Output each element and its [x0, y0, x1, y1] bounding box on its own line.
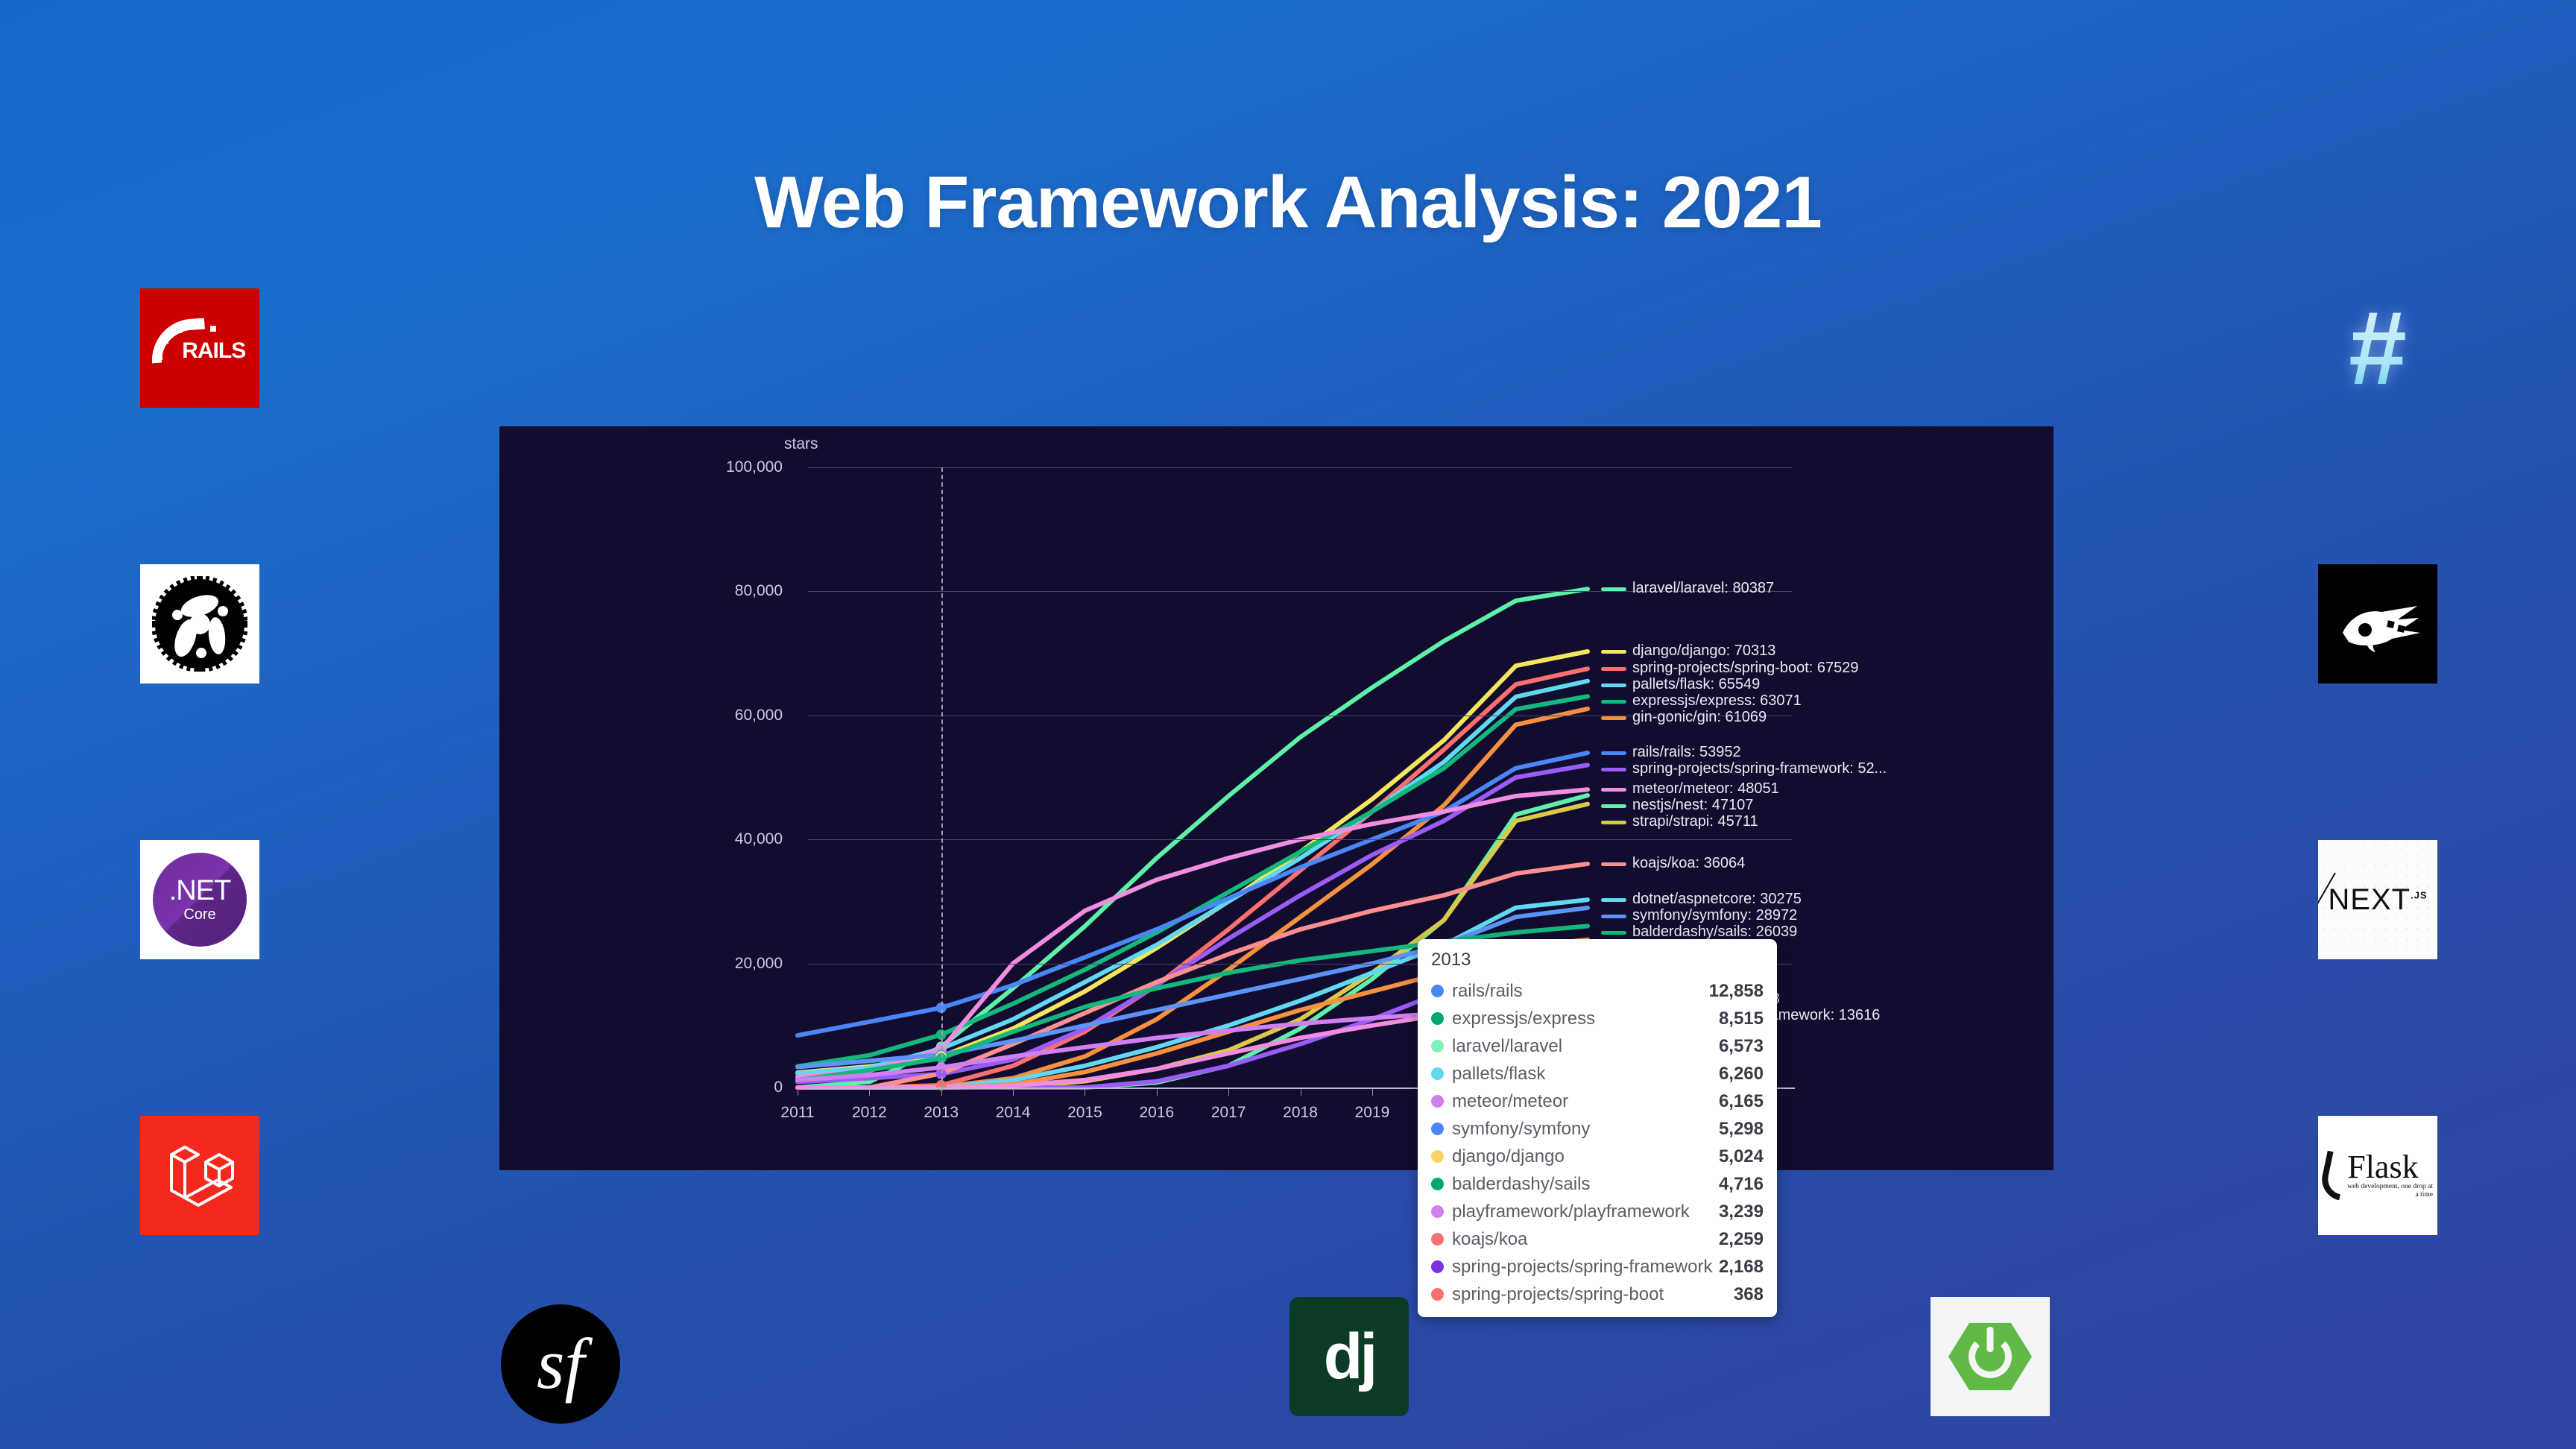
- spring-hexagon-icon: [1948, 1320, 2032, 1393]
- series-end-label: pallets/flask: 65549: [1632, 676, 1760, 693]
- tooltip-row: meteor/meteor6,165: [1431, 1087, 1764, 1115]
- tooltip-row: symfony/symfony5,298: [1431, 1115, 1764, 1143]
- series-color-swatch: [1601, 915, 1626, 918]
- y-axis-tick-label: 100,000: [634, 458, 783, 476]
- series-end-label: rails/rails: 53952: [1632, 744, 1741, 761]
- django-label: dj: [1324, 1325, 1374, 1389]
- series-end-label: balderdashy/sails: 26039: [1632, 924, 1797, 941]
- dotnet-core-sublabel: Core: [183, 906, 215, 924]
- y-axis-tick-label: 0: [634, 1079, 783, 1096]
- y-axis-tick-label: 20,000: [634, 955, 783, 973]
- highlight-vertical-line: [941, 467, 943, 1087]
- rails-logo: RAILS: [140, 288, 259, 408]
- x-axis-tick-label: 2014: [996, 1104, 1031, 1122]
- x-axis-tickmark: [1372, 1089, 1373, 1096]
- tooltip-series-value: 6,260: [1719, 1064, 1764, 1085]
- tooltip-series-value: 12,858: [1709, 981, 1764, 1002]
- series-color-dot: [1431, 1205, 1444, 1218]
- tooltip-series-name: spring-projects/spring-framework: [1452, 1257, 1719, 1278]
- series-color-dot: [1431, 1260, 1444, 1273]
- tooltip-series-value: 3,239: [1719, 1202, 1764, 1222]
- tooltip-series-value: 6,573: [1719, 1036, 1764, 1057]
- tooltip-row: spring-projects/spring-framework2,168: [1431, 1253, 1764, 1281]
- series-color-swatch: [1601, 667, 1626, 671]
- x-axis-tickmark: [1085, 1089, 1085, 1096]
- tooltip-series-name: balderdashy/sails: [1452, 1174, 1719, 1195]
- tooltip-series-name: rails/rails: [1452, 981, 1709, 1002]
- chart-tooltip: 2013 rails/rails12,858expressjs/express8…: [1418, 939, 1777, 1317]
- tooltip-series-value: 6,165: [1719, 1091, 1764, 1112]
- series-color-dot: [1431, 1095, 1444, 1108]
- flask-horn-icon: [2318, 1151, 2349, 1201]
- tooltip-row: rails/rails12,858: [1431, 977, 1764, 1005]
- x-axis-tick-label: 2011: [780, 1104, 814, 1122]
- series-color-swatch: [1601, 587, 1626, 591]
- series-color-swatch: [1601, 862, 1626, 866]
- x-axis-tick-label: 2016: [1139, 1104, 1174, 1122]
- series-color-dot: [1431, 1178, 1444, 1190]
- gin-logo: [2318, 564, 2437, 684]
- nextjs-label: NEXT: [2328, 883, 2411, 916]
- x-axis-tickmark: [1157, 1089, 1158, 1096]
- series-color-swatch: [1601, 804, 1626, 808]
- x-axis-tick-label: 2015: [1067, 1104, 1102, 1122]
- series-end-label: symfony/symfony: 28972: [1632, 907, 1797, 924]
- tooltip-series-value: 2,259: [1719, 1229, 1764, 1250]
- nextjs-sublabel: .JS: [2411, 889, 2428, 900]
- rails-logo-label: RAILS: [182, 338, 245, 364]
- nextjs-logo: NEXT.JS: [2318, 840, 2437, 959]
- tooltip-series-name: koajs/koa: [1452, 1229, 1719, 1250]
- y-axis-tick-label: 80,000: [634, 582, 783, 600]
- gridline: [808, 467, 1792, 468]
- x-axis-tick-label: 2017: [1211, 1104, 1246, 1122]
- series-color-dot: [1431, 1288, 1444, 1301]
- series-end-label: laravel/laravel: 80387: [1632, 580, 1774, 597]
- symfony-label: sf: [537, 1328, 584, 1400]
- x-axis-tick-label: 2012: [852, 1104, 887, 1122]
- laravel-mark-icon: [160, 1137, 240, 1214]
- gear-icon: [152, 576, 247, 672]
- series-color-dot: [1431, 1012, 1444, 1025]
- django-logo: dj: [1289, 1297, 1409, 1416]
- series-color-swatch: [1601, 650, 1626, 654]
- series-color-swatch: [1601, 821, 1626, 824]
- hash-icon: #: [2349, 296, 2407, 400]
- x-axis-tickmark: [1228, 1089, 1229, 1096]
- series-color-dot: [1431, 1123, 1444, 1135]
- gridline: [808, 839, 1792, 840]
- chart-panel: stars 020,00040,00060,00080,000100,000 2…: [499, 426, 2053, 1170]
- series-color-dot: [1431, 985, 1444, 997]
- x-axis-tick-label: 2018: [1283, 1104, 1318, 1122]
- sails-logo: [140, 564, 259, 684]
- symfony-logo: sf: [501, 1304, 620, 1424]
- tooltip-series-value: 8,515: [1719, 1008, 1764, 1029]
- dotnet-core-logo: .NET Core: [140, 840, 259, 959]
- laravel-logo: [140, 1116, 259, 1235]
- series-end-label: strapi/strapi: 45711: [1632, 813, 1758, 830]
- series-end-label: koajs/koa: 36064: [1632, 855, 1745, 872]
- series-color-swatch: [1601, 768, 1626, 771]
- tooltip-series-value: 5,024: [1719, 1146, 1764, 1167]
- series-color-swatch: [1601, 898, 1626, 902]
- gin-mark-icon: [2329, 587, 2426, 661]
- tooltip-row: spring-projects/spring-boot368: [1431, 1281, 1764, 1308]
- flask-sublabel: web development, one drop at a time: [2347, 1183, 2433, 1199]
- y-axis-tick-label: 60,000: [634, 707, 783, 724]
- series-end-label: dotnet/aspnetcore: 30275: [1632, 891, 1802, 908]
- series-end-label: meteor/meteor: 48051: [1632, 780, 1779, 798]
- x-axis-tickmark: [1301, 1089, 1301, 1096]
- tooltip-rows: rails/rails12,858expressjs/express8,515l…: [1431, 977, 1764, 1308]
- series-end-label: spring-projects/spring-framework: 52...: [1632, 760, 1887, 777]
- x-axis-tickmark: [798, 1089, 798, 1096]
- x-axis-tickmark: [1013, 1089, 1014, 1096]
- chart-lines: [499, 426, 2053, 1170]
- series-color-swatch: [1601, 931, 1626, 935]
- y-axis-tick-label: 40,000: [634, 830, 783, 848]
- series-color-dot: [1431, 1150, 1444, 1163]
- x-axis-tickmark: [869, 1089, 870, 1096]
- tooltip-row: pallets/flask6,260: [1431, 1060, 1764, 1087]
- tooltip-row: django/django5,024: [1431, 1143, 1764, 1170]
- tooltip-row: balderdashy/sails4,716: [1431, 1170, 1764, 1198]
- tooltip-series-value: 5,298: [1719, 1119, 1764, 1140]
- series-color-dot: [1431, 1040, 1444, 1052]
- power-icon: [1969, 1335, 2012, 1378]
- tooltip-series-name: laravel/laravel: [1452, 1036, 1719, 1057]
- tooltip-series-name: symfony/symfony: [1452, 1119, 1719, 1140]
- tooltip-row: koajs/koa2,259: [1431, 1225, 1764, 1253]
- series-end-label: expressjs/express: 63071: [1632, 692, 1802, 710]
- x-axis-tick-label: 2019: [1355, 1104, 1390, 1122]
- x-axis-tick-label: 2013: [924, 1104, 959, 1122]
- series-end-label: gin-gonic/gin: 61069: [1632, 709, 1767, 726]
- tooltip-series-value: 368: [1734, 1284, 1764, 1305]
- series-color-swatch: [1601, 716, 1626, 720]
- x-axis-tickmark: [941, 1089, 942, 1096]
- tooltip-row: expressjs/express8,515: [1431, 1005, 1764, 1032]
- series-end-label: spring-projects/spring-boot: 67529: [1632, 660, 1859, 677]
- page-title: Web Framework Analysis: 2021: [0, 160, 2576, 244]
- tooltip-series-name: django/django: [1452, 1146, 1719, 1167]
- tooltip-row: laravel/laravel6,573: [1431, 1032, 1764, 1060]
- flask-logo: Flask web development, one drop at a tim…: [2318, 1116, 2437, 1235]
- series-end-label: nestjs/nest: 47107: [1632, 797, 1753, 814]
- tooltip-series-name: meteor/meteor: [1452, 1091, 1719, 1112]
- series-color-dot: [1431, 1233, 1444, 1246]
- series-color-swatch: [1601, 751, 1626, 755]
- series-color-swatch: [1601, 684, 1626, 687]
- series-end-label: django/django: 70313: [1632, 643, 1775, 660]
- tooltip-series-value: 2,168: [1719, 1257, 1764, 1278]
- tooltip-year: 2013: [1431, 950, 1764, 970]
- series-color-swatch: [1601, 700, 1626, 704]
- series-color-swatch: [1601, 788, 1626, 792]
- tooltip-series-name: expressjs/express: [1452, 1008, 1719, 1029]
- tooltip-series-name: spring-projects/spring-boot: [1452, 1284, 1734, 1305]
- flask-label: Flask: [2347, 1152, 2433, 1183]
- tooltip-series-name: pallets/flask: [1452, 1064, 1719, 1085]
- flask-hash-logo: #: [2318, 288, 2437, 408]
- tooltip-series-name: playframework/playframework: [1452, 1202, 1719, 1222]
- spring-boot-logo: [1931, 1297, 2050, 1416]
- series-color-dot: [1431, 1067, 1444, 1080]
- dotnet-core-label: .NET: [169, 877, 231, 905]
- tooltip-series-value: 4,716: [1719, 1174, 1764, 1195]
- tooltip-row: playframework/playframework3,239: [1431, 1198, 1764, 1225]
